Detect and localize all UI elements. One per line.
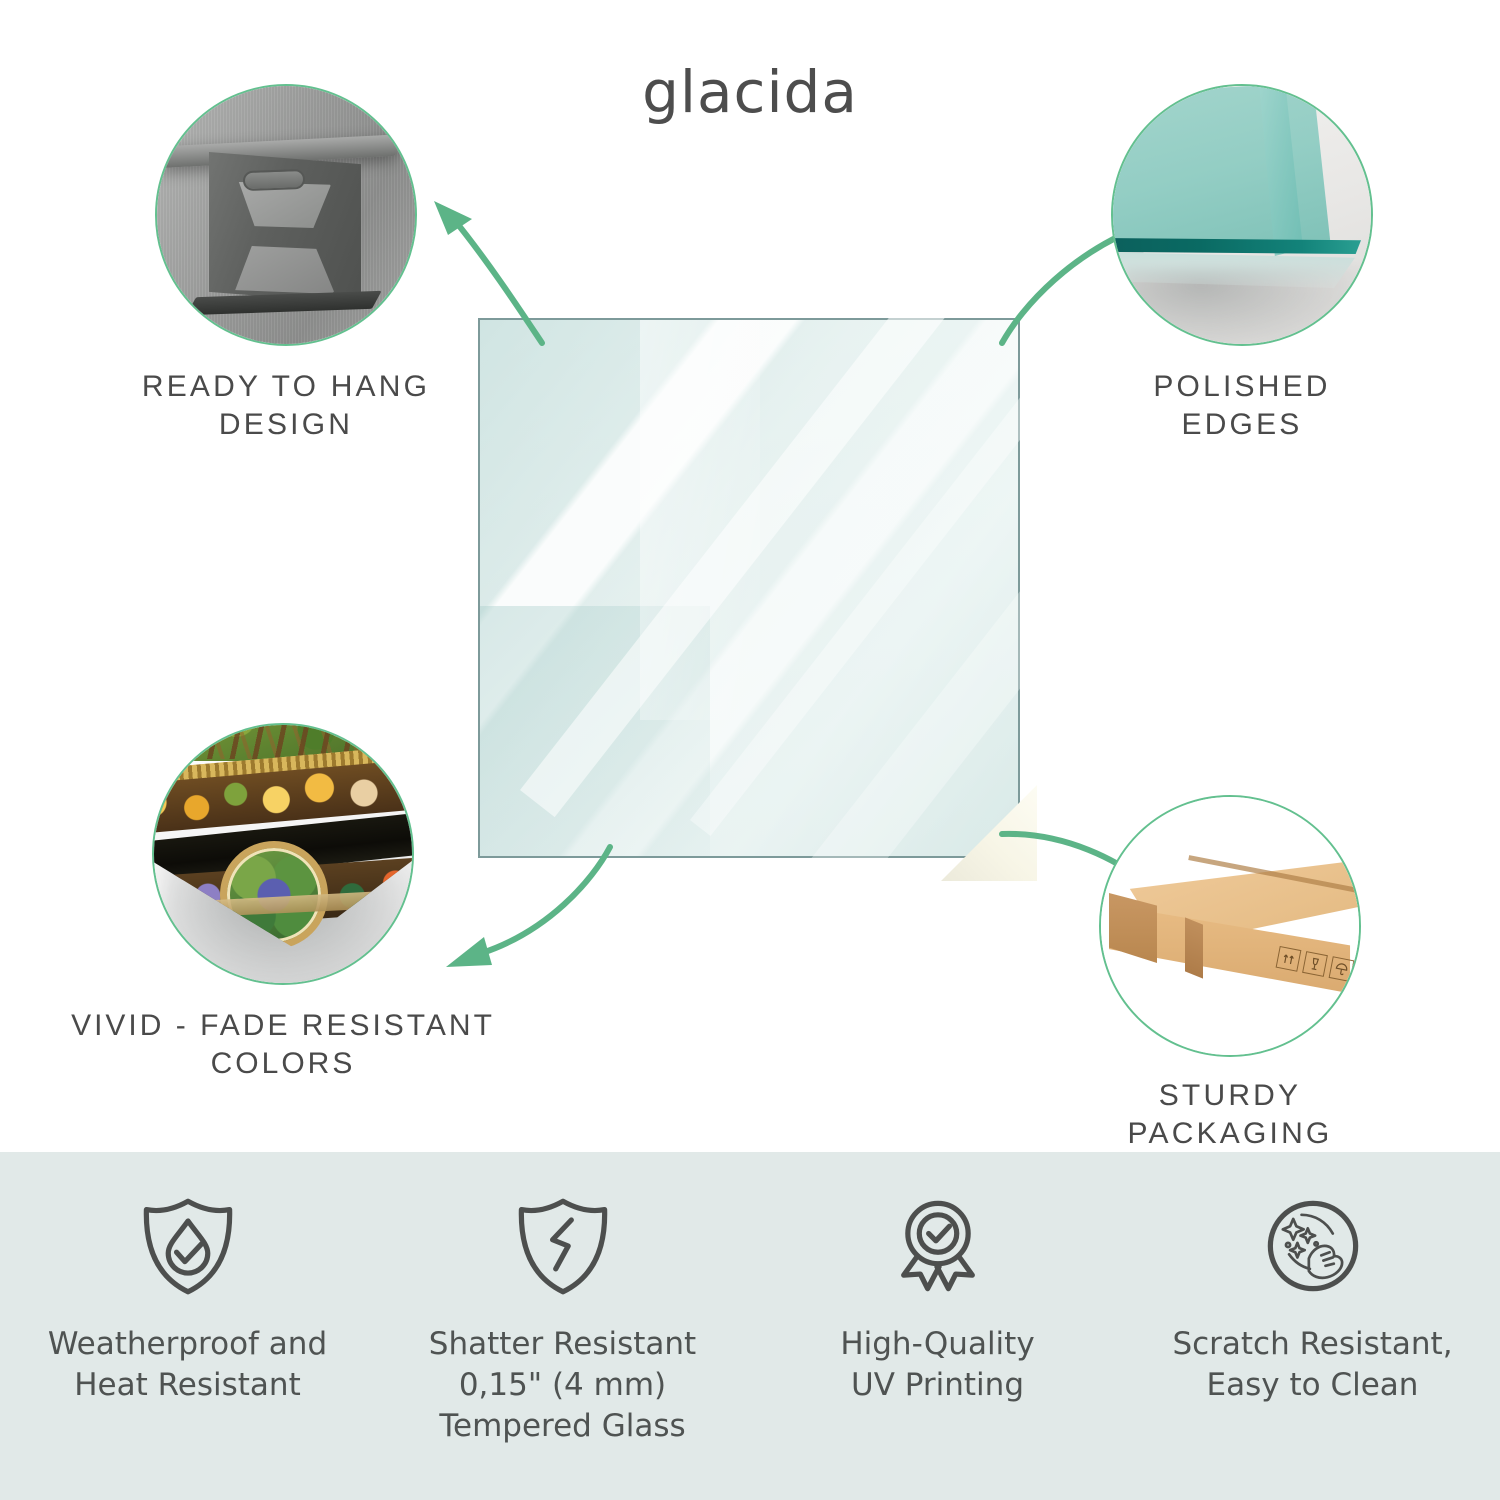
bracket-keyhole-slot	[243, 169, 306, 191]
sparkle-hand-wipe-icon	[1261, 1194, 1365, 1298]
feature-sturdy-packaging: STURDY PACKAGING	[1080, 795, 1380, 1153]
this-side-up-icon	[1276, 946, 1302, 972]
bottom-feature-text: Scratch Resistant, Easy to Clean	[1172, 1324, 1452, 1406]
arrow-to-ready-to-hang	[430, 195, 610, 345]
shield-lightning-bolt-icon	[511, 1194, 615, 1298]
bottom-feature-uv-printing: High-Quality UV Printing	[750, 1152, 1125, 1500]
bottom-feature-shatter-resistant: Shatter Resistant 0,15" (4 mm) Tempered …	[375, 1152, 750, 1500]
shield-water-drop-check-icon	[136, 1194, 240, 1298]
feature-label-vivid-colors: VIVID - FADE RESISTANT COLORS	[43, 1007, 523, 1083]
feature-image-ready-to-hang	[155, 84, 417, 346]
packaging-illustration	[1101, 797, 1359, 1055]
glass-edge-photo	[1113, 86, 1371, 344]
feature-vivid-colors: VIVID - FADE RESISTANT COLORS	[133, 723, 433, 1083]
polished-edge-band	[1111, 238, 1361, 254]
bottom-feature-text: High-Quality UV Printing	[840, 1324, 1034, 1406]
stained-glass-photo	[154, 725, 412, 983]
bottom-feature-weatherproof: Weatherproof and Heat Resistant	[0, 1152, 375, 1500]
feature-polished-edges: POLISHED EDGES	[1092, 84, 1392, 444]
bottom-feature-bar: Weatherproof and Heat Resistant Shatter …	[0, 1152, 1500, 1500]
fragile-glass-icon	[1302, 951, 1328, 977]
feature-image-sturdy-packaging	[1099, 795, 1361, 1057]
feature-ready-to-hang: READY TO HANG DESIGN	[136, 84, 436, 444]
bracket-foot	[186, 291, 381, 315]
bottom-feature-scratch-resistant: Scratch Resistant, Easy to Clean	[1125, 1152, 1500, 1500]
feature-label-ready-to-hang: READY TO HANG DESIGN	[136, 368, 436, 444]
feature-label-polished-edges: POLISHED EDGES	[1092, 368, 1392, 444]
keep-dry-umbrella-icon	[1329, 956, 1355, 982]
quality-badge-check-icon	[886, 1194, 990, 1298]
glass-top-surface	[1111, 84, 1373, 248]
product-infographic: glacida	[0, 0, 1500, 1500]
feature-image-vivid-colors	[152, 723, 414, 985]
product-glass-panel	[478, 318, 1020, 858]
feature-label-sturdy-packaging: STURDY PACKAGING	[1080, 1077, 1380, 1153]
arrow-to-vivid-colors	[440, 845, 620, 975]
bottom-feature-text: Shatter Resistant 0,15" (4 mm) Tempered …	[429, 1324, 696, 1447]
bracket-photo	[157, 86, 415, 344]
feature-image-polished-edges	[1111, 84, 1373, 346]
bottom-feature-text: Weatherproof and Heat Resistant	[48, 1324, 327, 1406]
box-seam	[1185, 917, 1203, 978]
